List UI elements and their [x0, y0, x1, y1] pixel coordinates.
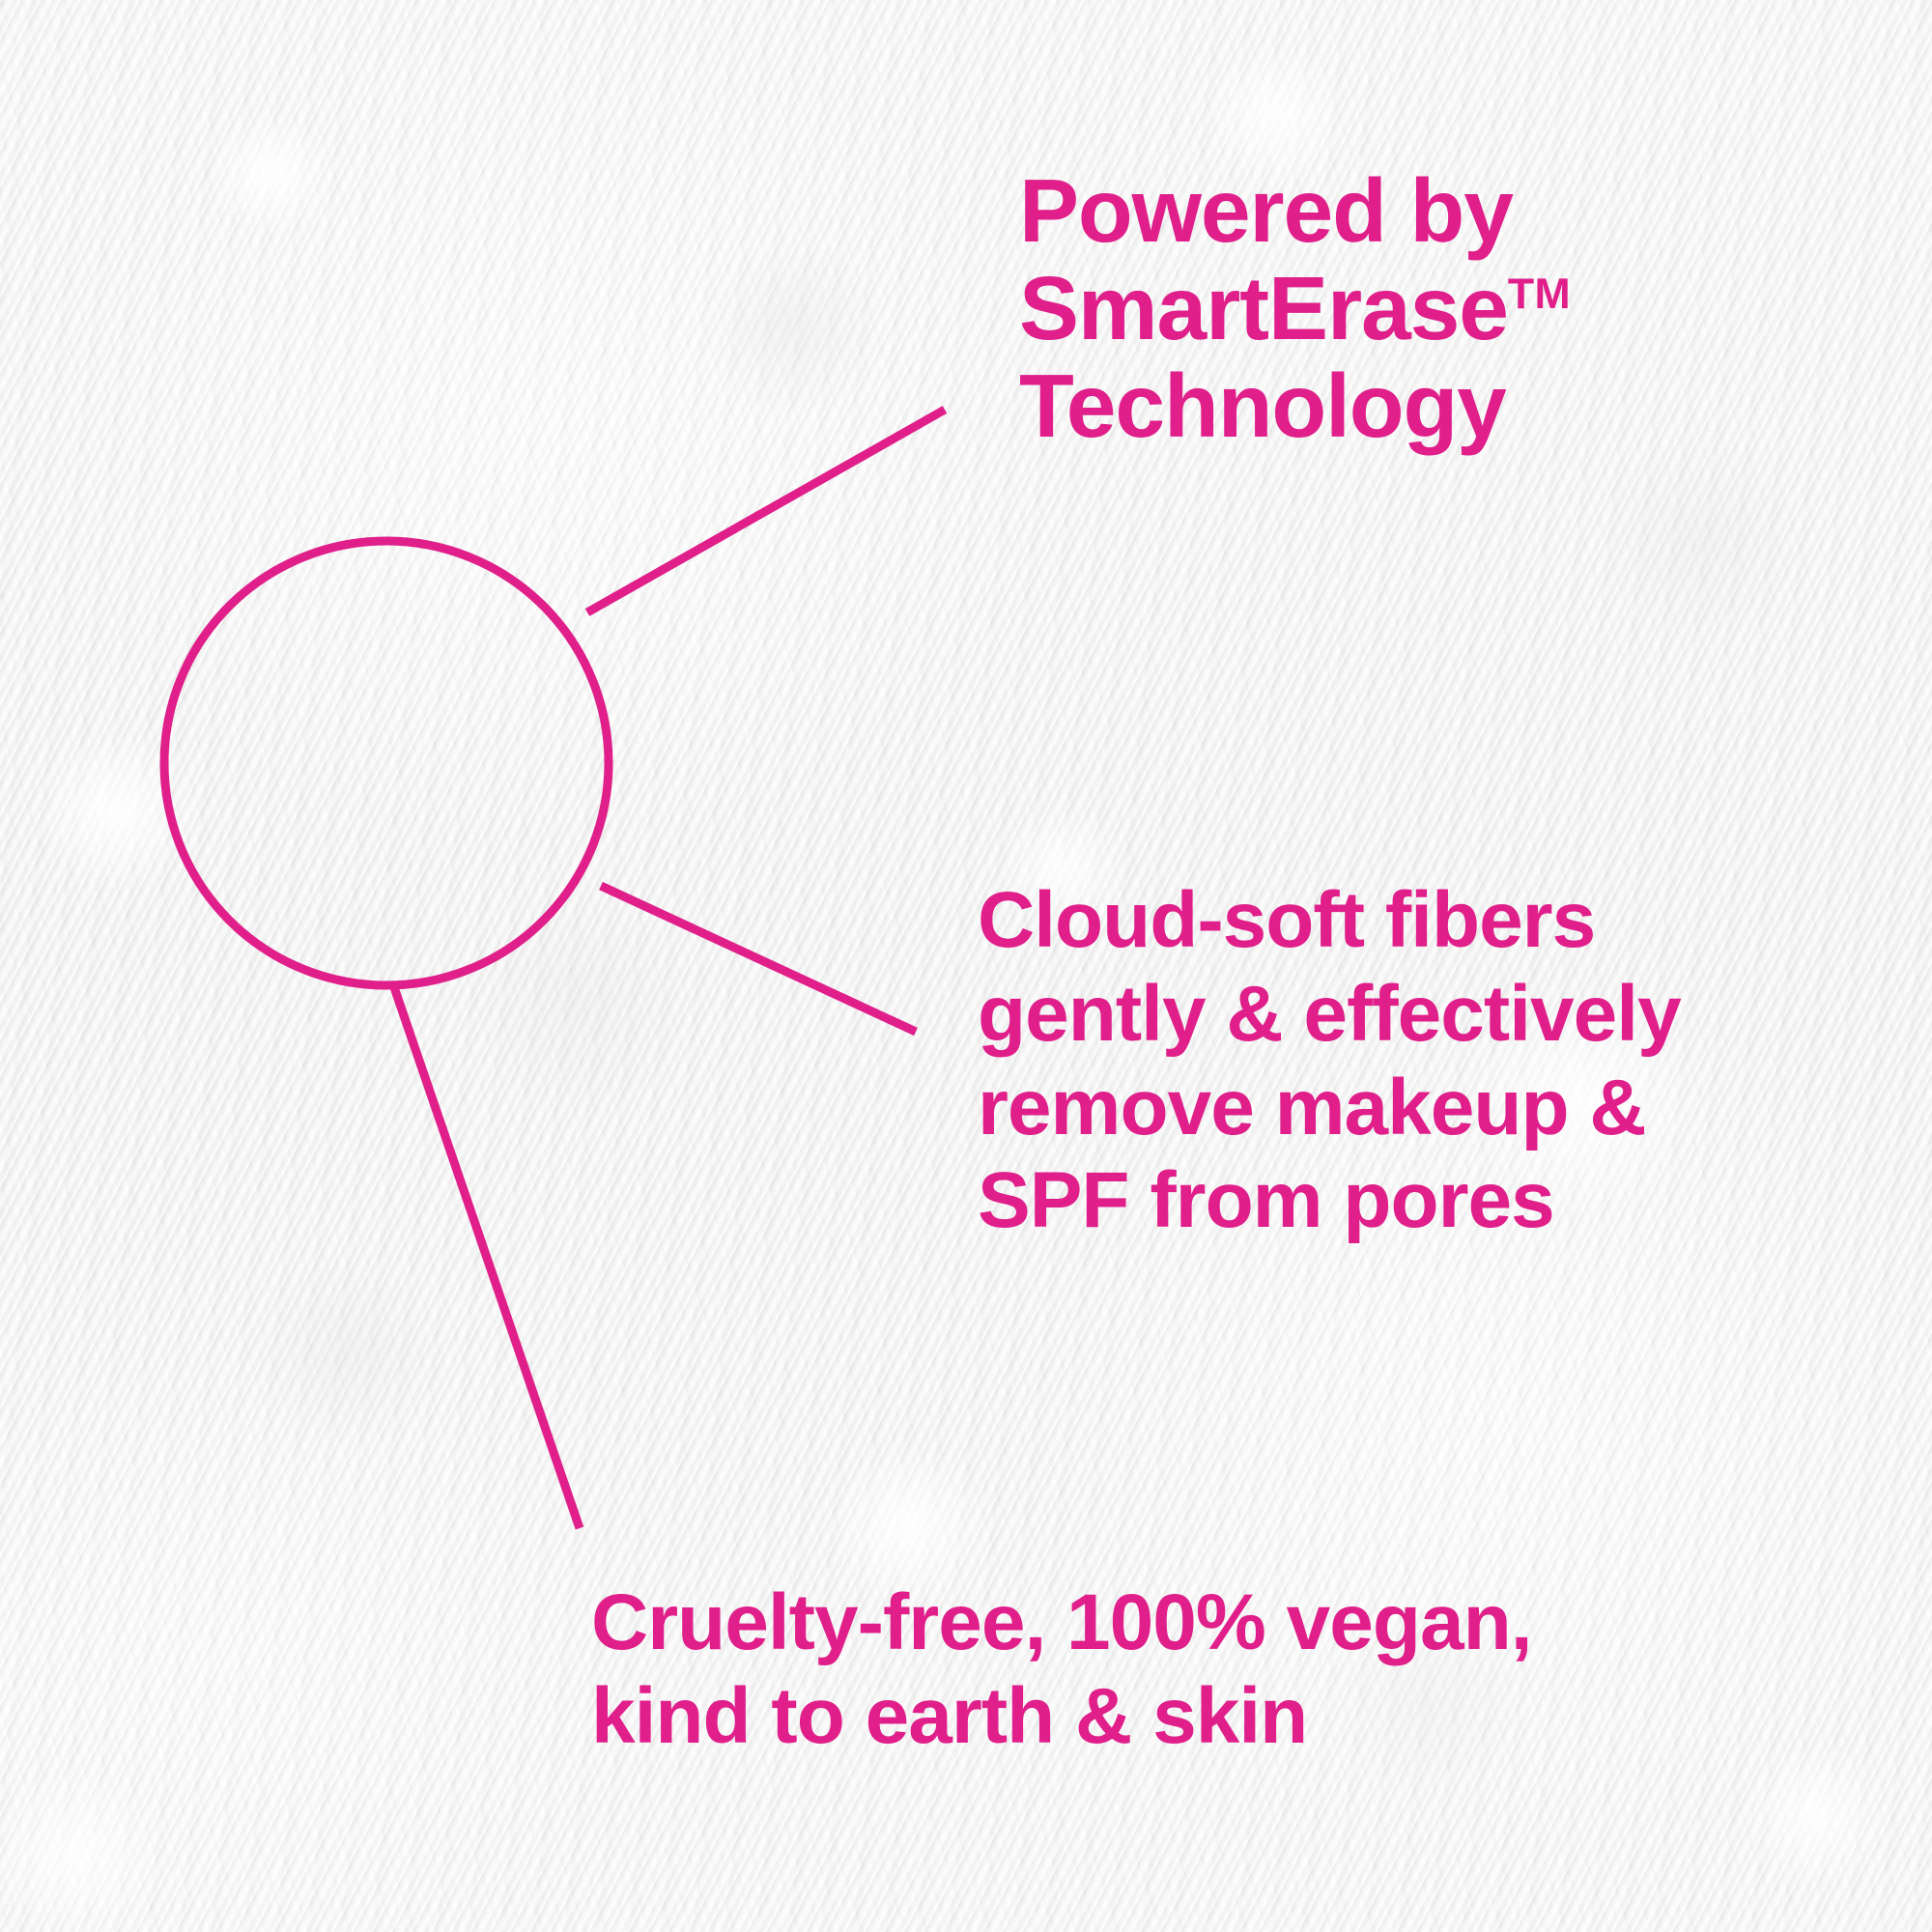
leader-line-technology — [587, 410, 945, 612]
callout-cruelty-free-vegan: Cruelty-free, 100% vegan, kind to earth … — [591, 1577, 1532, 1764]
leader-line-vegan — [394, 987, 580, 1528]
callout-fibers-line-1: Cloud-soft fibers — [978, 874, 1681, 968]
callout-smarterase-technology: Powered by SmartEraseTM Technology — [1019, 162, 1571, 455]
callout-vegan-line-1: Cruelty-free, 100% vegan, — [591, 1577, 1532, 1670]
product-infographic-canvas: Powered by SmartEraseTM Technology Cloud… — [0, 0, 1932, 1932]
trademark-symbol: TM — [1508, 270, 1571, 318]
callout-technology-line-2-text: SmartErase — [1019, 258, 1508, 358]
callout-technology-line-2: SmartEraseTM — [1019, 260, 1571, 357]
callout-fibers-line-4: SPF from pores — [978, 1154, 1681, 1248]
callout-technology-line-3: Technology — [1019, 357, 1571, 455]
callout-technology-line-1: Powered by — [1019, 162, 1571, 260]
leader-line-fibers — [601, 886, 916, 1032]
zoom-circle-icon — [164, 541, 609, 985]
callout-fibers-line-3: remove makeup & — [978, 1062, 1681, 1155]
callout-fibers-line-2: gently & effectively — [978, 968, 1681, 1062]
callout-vegan-line-2: kind to earth & skin — [591, 1670, 1532, 1764]
callout-cloud-soft-fibers: Cloud-soft fibers gently & effectively r… — [978, 874, 1681, 1248]
